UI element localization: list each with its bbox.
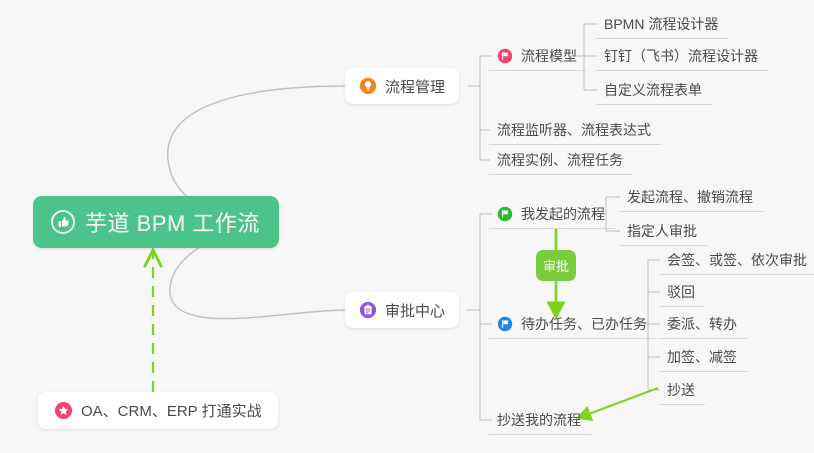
branch-label-approval-center: 审批中心 bbox=[385, 300, 445, 321]
label-countersign-or-sequential: 会签、或签、依次审批 bbox=[667, 250, 807, 270]
label-assignee-approval: 指定人审批 bbox=[627, 221, 697, 241]
label-reject: 驳回 bbox=[667, 282, 695, 302]
label-dingtalk-feishu-designer: 钉钉（飞书）流程设计器 bbox=[604, 46, 758, 66]
node-assignee-approval[interactable]: 指定人审批 bbox=[619, 216, 707, 246]
clipboard-icon bbox=[359, 301, 377, 319]
label-start-cancel-process: 发起流程、撤销流程 bbox=[627, 187, 753, 207]
label-process-instance-task: 流程实例、流程任务 bbox=[497, 150, 623, 170]
root-label: 芋道 BPM 工作流 bbox=[85, 206, 260, 238]
annotation-badge-approval-label: 审批 bbox=[543, 256, 569, 275]
node-countersign-or-sequential[interactable]: 会签、或签、依次审批 bbox=[659, 245, 814, 275]
label-add-remove-sign: 加签、减签 bbox=[667, 347, 737, 367]
thumbs-up-icon bbox=[51, 210, 75, 234]
label-cc-to-me-process: 抄送我的流程 bbox=[497, 410, 581, 430]
annotation-note-integration-label: OA、CRM、ERP 打通实战 bbox=[81, 400, 262, 421]
node-my-initiated-process[interactable]: 我发起的流程 bbox=[489, 199, 615, 229]
root-node[interactable]: 芋道 BPM 工作流 bbox=[33, 196, 279, 248]
branch-label-process-management: 流程管理 bbox=[385, 76, 445, 97]
label-todo-done-tasks: 待办任务、已办任务 bbox=[521, 314, 647, 334]
node-cc-to-me-process[interactable]: 抄送我的流程 bbox=[489, 405, 591, 435]
node-custom-process-form[interactable]: 自定义流程表单 bbox=[596, 75, 712, 105]
node-dingtalk-feishu-designer[interactable]: 钉钉（飞书）流程设计器 bbox=[596, 41, 768, 71]
node-todo-done-tasks[interactable]: 待办任务、已办任务 bbox=[489, 309, 657, 339]
node-bpmn-designer[interactable]: BPMN 流程设计器 bbox=[596, 9, 728, 39]
annotation-badge-approval: 审批 bbox=[536, 250, 576, 281]
label-delegate-transfer: 委派、转办 bbox=[667, 314, 737, 334]
annotation-note-integration[interactable]: OA、CRM、ERP 打通实战 bbox=[38, 392, 278, 429]
label-custom-process-form: 自定义流程表单 bbox=[604, 80, 702, 100]
flag-icon bbox=[497, 316, 513, 332]
lightbulb-icon bbox=[359, 77, 377, 95]
node-process-listener-expression[interactable]: 流程监听器、流程表达式 bbox=[489, 115, 661, 145]
node-process-instance-task[interactable]: 流程实例、流程任务 bbox=[489, 145, 633, 175]
node-cc[interactable]: 抄送 bbox=[659, 375, 705, 405]
label-cc: 抄送 bbox=[667, 380, 695, 400]
label-my-initiated-process: 我发起的流程 bbox=[521, 204, 605, 224]
label-process-model: 流程模型 bbox=[521, 46, 577, 66]
label-bpmn-designer: BPMN 流程设计器 bbox=[604, 14, 718, 34]
node-add-remove-sign[interactable]: 加签、减签 bbox=[659, 342, 747, 372]
star-icon bbox=[54, 401, 73, 420]
node-reject[interactable]: 驳回 bbox=[659, 277, 705, 307]
flag-icon bbox=[497, 206, 513, 222]
branch-node-process-management[interactable]: 流程管理 bbox=[345, 68, 459, 104]
node-process-model[interactable]: 流程模型 bbox=[489, 41, 587, 71]
flag-icon bbox=[497, 48, 513, 64]
node-start-cancel-process[interactable]: 发起流程、撤销流程 bbox=[619, 182, 763, 212]
label-process-listener-expression: 流程监听器、流程表达式 bbox=[497, 120, 651, 140]
branch-node-approval-center[interactable]: 审批中心 bbox=[345, 292, 459, 328]
mindmap-canvas: 芋道 BPM 工作流 流程管理 流程模型 BPMN 流程设计器 钉钉（飞书 bbox=[0, 0, 814, 453]
node-delegate-transfer[interactable]: 委派、转办 bbox=[659, 309, 747, 339]
